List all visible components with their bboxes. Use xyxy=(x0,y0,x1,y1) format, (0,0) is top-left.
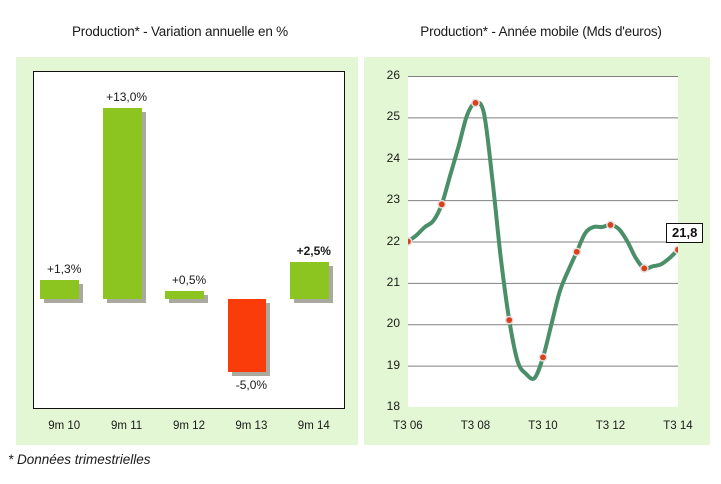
bar-group: +1,3% xyxy=(33,71,95,409)
x-tick-label: 9m 11 xyxy=(95,420,157,432)
bar-value-label: +2,5% xyxy=(276,244,351,258)
y-tick-label: 26 xyxy=(370,68,400,82)
bar-value-label: +13,0% xyxy=(89,90,164,104)
x-tick-label: 9m 13 xyxy=(220,420,282,432)
line-series xyxy=(408,76,678,407)
y-tick-label: 24 xyxy=(370,151,400,165)
x-tick-label: 9m 10 xyxy=(33,420,95,432)
bar-value-label: +0,5% xyxy=(152,273,227,287)
x-tick-label: T3 14 xyxy=(638,420,718,432)
bar[interactable] xyxy=(228,299,267,372)
bar-value-label: -5,0% xyxy=(214,378,289,392)
y-tick-label: 21 xyxy=(370,275,400,289)
left-chart-title: Production* - Variation annuelle en % xyxy=(0,24,360,39)
y-tick-label: 22 xyxy=(370,234,400,248)
right-chart-plot-area xyxy=(408,76,678,407)
right-chart-title: Production* - Année mobile (Mds d'euros) xyxy=(362,24,720,39)
bar-series: +1,3%+13,0%+0,5%-5,0%+2,5% xyxy=(33,71,345,409)
bar-group: -5,0% xyxy=(220,71,282,409)
footnote: * Données trimestrielles xyxy=(8,452,151,467)
x-tick-label: 9m 12 xyxy=(158,420,220,432)
y-tick-label: 25 xyxy=(370,109,400,123)
x-tick-label: 9m 14 xyxy=(283,420,345,432)
bar-group: +13,0% xyxy=(95,71,157,409)
bar-value-label: +1,3% xyxy=(27,262,102,276)
bar[interactable] xyxy=(165,291,204,298)
y-tick-label: 23 xyxy=(370,192,400,206)
y-tick-label: 19 xyxy=(370,358,400,372)
y-tick-label: 18 xyxy=(370,399,400,413)
bar-group: +0,5% xyxy=(158,71,220,409)
last-value-callout: 21,8 xyxy=(666,223,703,243)
bar[interactable] xyxy=(103,108,142,299)
y-tick-label: 20 xyxy=(370,316,400,330)
bar-group: +2,5% xyxy=(283,71,345,409)
bar[interactable] xyxy=(40,280,79,299)
bar[interactable] xyxy=(290,262,329,299)
